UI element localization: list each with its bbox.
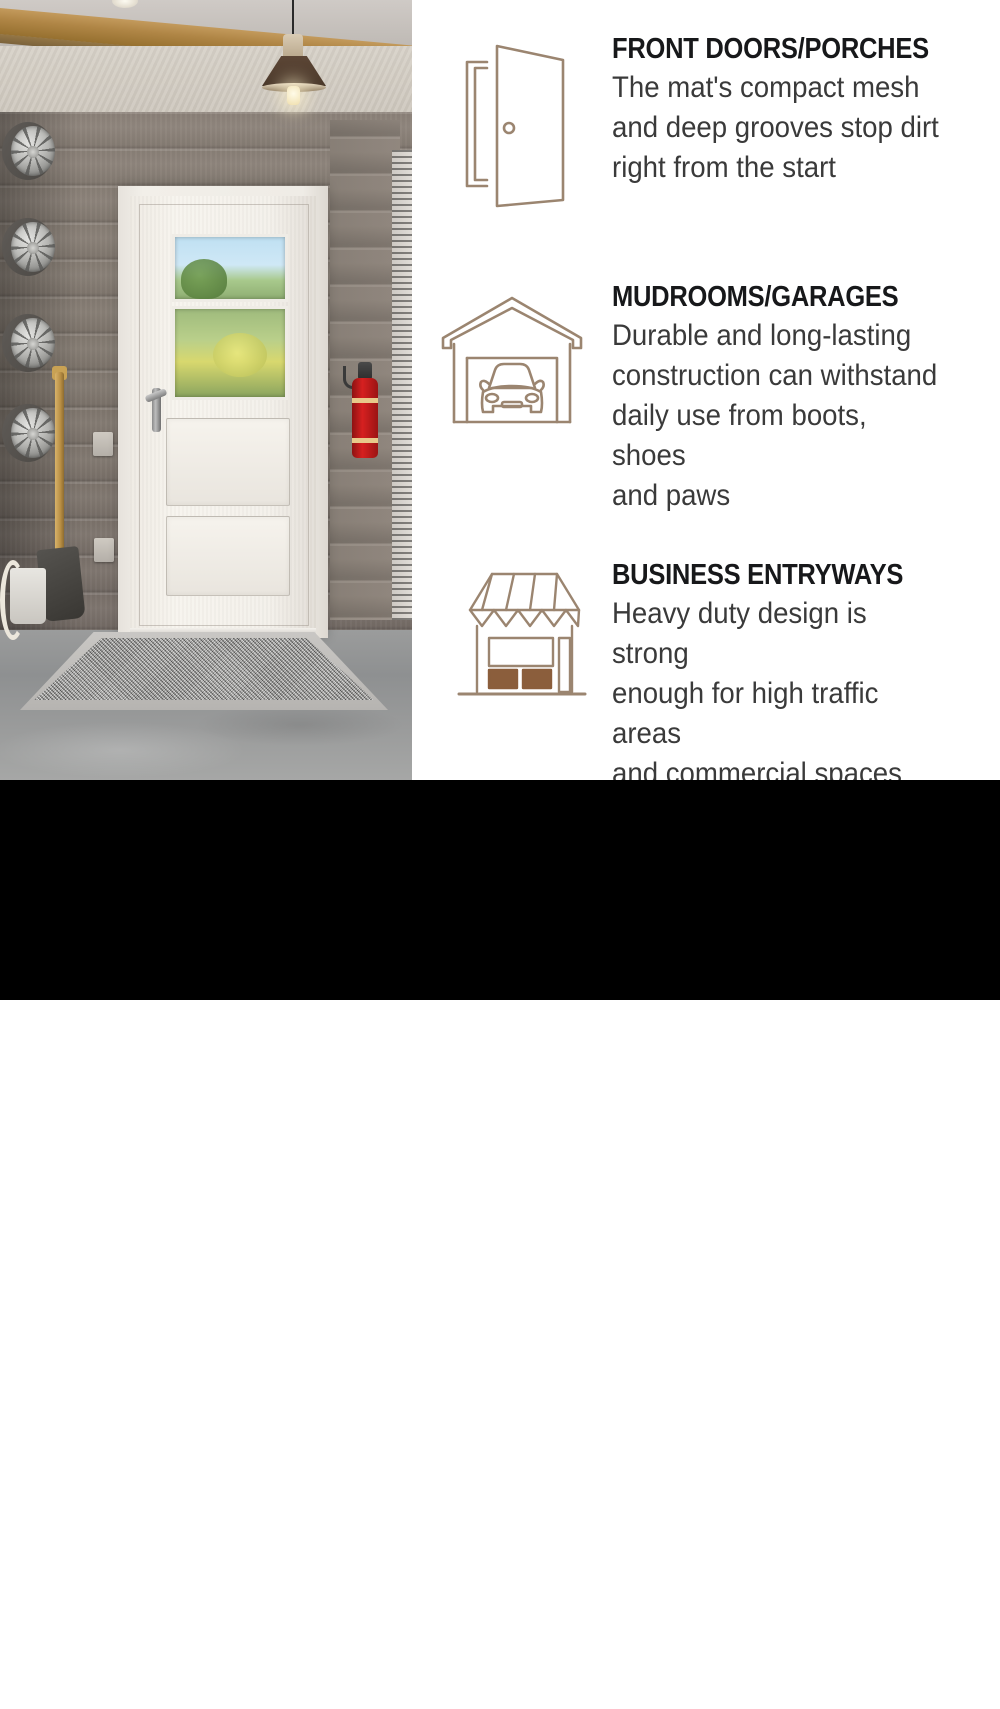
feature-text: MUDROOMS/GARAGES Durable and long-lastin… [612,282,972,516]
banner-headline: INDOOR AND OUTDOOR USE [128,1618,1000,1704]
feature-title: MUDROOMS/GARAGES [612,282,929,312]
bottom-banner: INDOOR AND OUTDOOR USE [0,780,1000,1000]
feature-item-mudrooms: MUDROOMS/GARAGES Durable and long-lastin… [412,282,1000,516]
alloy-wheel-icon [2,122,54,180]
alloy-wheel-icon [2,218,54,276]
door-window-lower [172,306,288,400]
alloy-wheel-icon [2,404,54,462]
wall-outlet-icon [94,538,114,562]
feature-text: FRONT DOORS/PORCHES The mat's compact me… [612,34,972,210]
feature-title: FRONT DOORS/PORCHES [612,34,929,64]
fire-extinguisher-icon [352,378,378,458]
feature-item-business: BUSINESS ENTRYWAYS Heavy duty design is … [412,560,1000,794]
feature-body: Durable and long-lasting construction ca… [612,316,943,516]
extinguisher-band [352,438,378,443]
feature-body: Heavy duty design is strong enough for h… [612,594,943,794]
door-panel-middle [166,418,290,506]
door-window-upper [172,234,288,302]
pendant-lamp-neck [283,34,303,58]
wheel-hub [27,428,39,440]
shovel-handle [55,372,64,554]
storefront-icon [412,560,612,794]
photo-scene [0,0,412,780]
alloy-wheel-icon [2,314,54,372]
light-bulb-icon [287,86,300,105]
lifestyle-photo [0,0,412,780]
feature-list: FRONT DOORS/PORCHES The mat's compact me… [412,0,1000,780]
pendant-lamp-cord [292,0,294,36]
wheel-hub [27,338,39,350]
extinguisher-band [352,398,378,403]
bucket-icon [10,568,46,624]
upper-stucco-wall [0,46,412,121]
wall-grid-panel [392,150,412,620]
top-section: FRONT DOORS/PORCHES The mat's compact me… [0,0,1000,780]
wheel-hub [27,146,39,158]
feature-title: BUSINESS ENTRYWAYS [612,560,929,590]
feature-text: BUSINESS ENTRYWAYS Heavy duty design is … [612,560,972,794]
wheel-hub [27,242,39,254]
feature-item-front-doors: FRONT DOORS/PORCHES The mat's compact me… [412,34,1000,210]
wall-outlet-icon [93,432,113,456]
garage-car-icon [412,282,612,516]
open-door-icon [412,34,612,210]
door-panel-bottom [166,516,290,596]
product-feature-image: FRONT DOORS/PORCHES The mat's compact me… [0,0,1000,1000]
feature-body: The mat's compact mesh and deep grooves … [612,68,943,188]
